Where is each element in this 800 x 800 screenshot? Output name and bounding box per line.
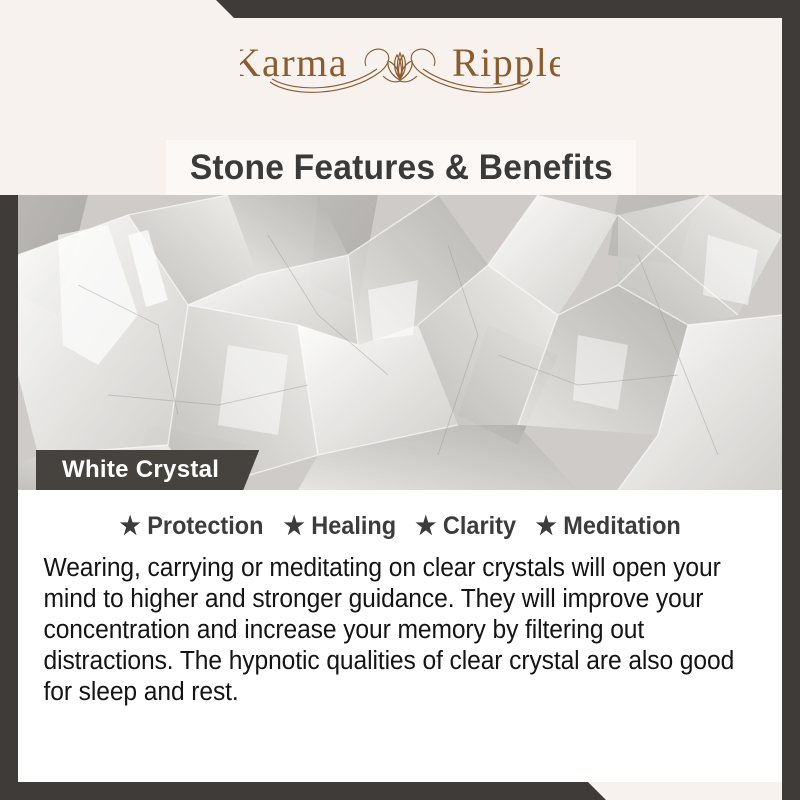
benefit-item-clarity: ★ Clarity bbox=[415, 512, 516, 541]
brand-name-left: Karma bbox=[240, 40, 348, 85]
benefit-item-healing: ★ Healing bbox=[283, 512, 396, 541]
brand-logo[interactable]: Karma Ripple bbox=[0, 36, 800, 103]
stone-info-card: Karma Ripple Stone Features & Benefits #… bbox=[0, 0, 800, 800]
crystal-cluster-illustration: #d8d5d0 bbox=[18, 195, 782, 490]
star-icon: ★ bbox=[119, 514, 140, 539]
benefits-list: ★ Protection ★ Healing ★ Clarity ★ Medit… bbox=[30, 512, 770, 541]
frame-band-right bbox=[782, 0, 800, 800]
stone-name-label: White Crystal bbox=[62, 456, 219, 484]
star-icon: ★ bbox=[283, 514, 304, 539]
frame-band-bottom bbox=[0, 782, 800, 800]
content-panel: ★ Protection ★ Healing ★ Clarity ★ Medit… bbox=[18, 490, 782, 782]
lotus-flower-icon bbox=[383, 53, 417, 82]
description-text: Wearing, carrying or meditating on clear… bbox=[30, 553, 744, 709]
star-icon: ★ bbox=[535, 514, 556, 539]
benefit-label: Healing bbox=[311, 512, 396, 541]
benefit-label: Protection bbox=[147, 512, 263, 541]
benefit-item-protection: ★ Protection bbox=[119, 512, 263, 541]
star-icon: ★ bbox=[415, 514, 436, 539]
title-band: Stone Features & Benefits bbox=[166, 140, 636, 196]
logo-svg: Karma Ripple bbox=[240, 36, 560, 98]
frame-band-left bbox=[0, 195, 18, 800]
page-title: Stone Features & Benefits bbox=[189, 148, 612, 188]
benefit-item-meditation: ★ Meditation bbox=[535, 512, 680, 541]
benefit-label: Clarity bbox=[442, 512, 515, 541]
brand-name-right: Ripple bbox=[452, 40, 560, 85]
stone-name-banner: White Crystal bbox=[36, 450, 259, 490]
benefit-label: Meditation bbox=[563, 512, 680, 541]
hero-image: #d8d5d0 bbox=[18, 195, 782, 490]
